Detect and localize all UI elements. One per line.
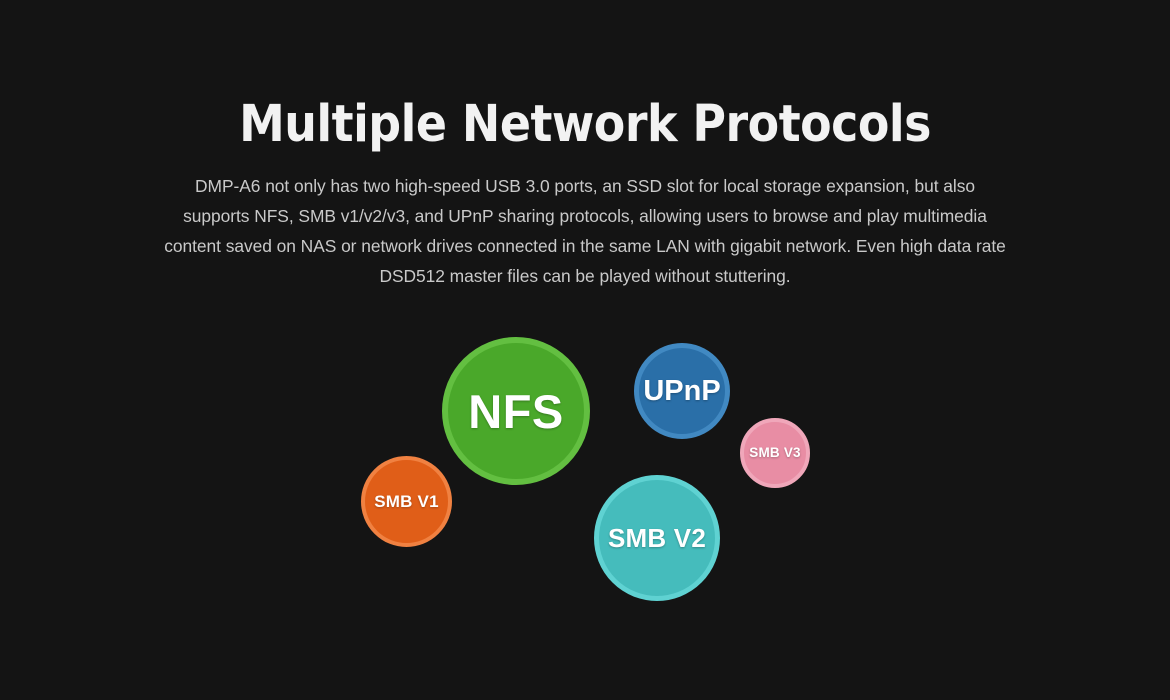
protocol-bubble-smb-v3-label: SMB V3: [749, 446, 800, 460]
protocol-bubble-upnp: UPnP: [634, 343, 730, 439]
promo-slide: Multiple Network Protocols DMP-A6 not on…: [0, 0, 1170, 700]
protocol-bubble-smb-v2: SMB V2: [594, 475, 720, 601]
protocol-bubble-diagram: NFS UPnP SMB V2 SMB V1 SMB V3: [0, 0, 1170, 700]
protocol-bubble-nfs: NFS: [442, 337, 590, 485]
protocol-bubble-smb-v2-label: SMB V2: [608, 525, 706, 551]
protocol-bubble-smb-v1: SMB V1: [361, 456, 452, 547]
protocol-bubble-nfs-label: NFS: [468, 388, 564, 435]
protocol-bubble-smb-v1-label: SMB V1: [374, 493, 439, 510]
protocol-bubble-upnp-label: UPnP: [643, 377, 720, 406]
protocol-bubble-smb-v3: SMB V3: [740, 418, 810, 488]
